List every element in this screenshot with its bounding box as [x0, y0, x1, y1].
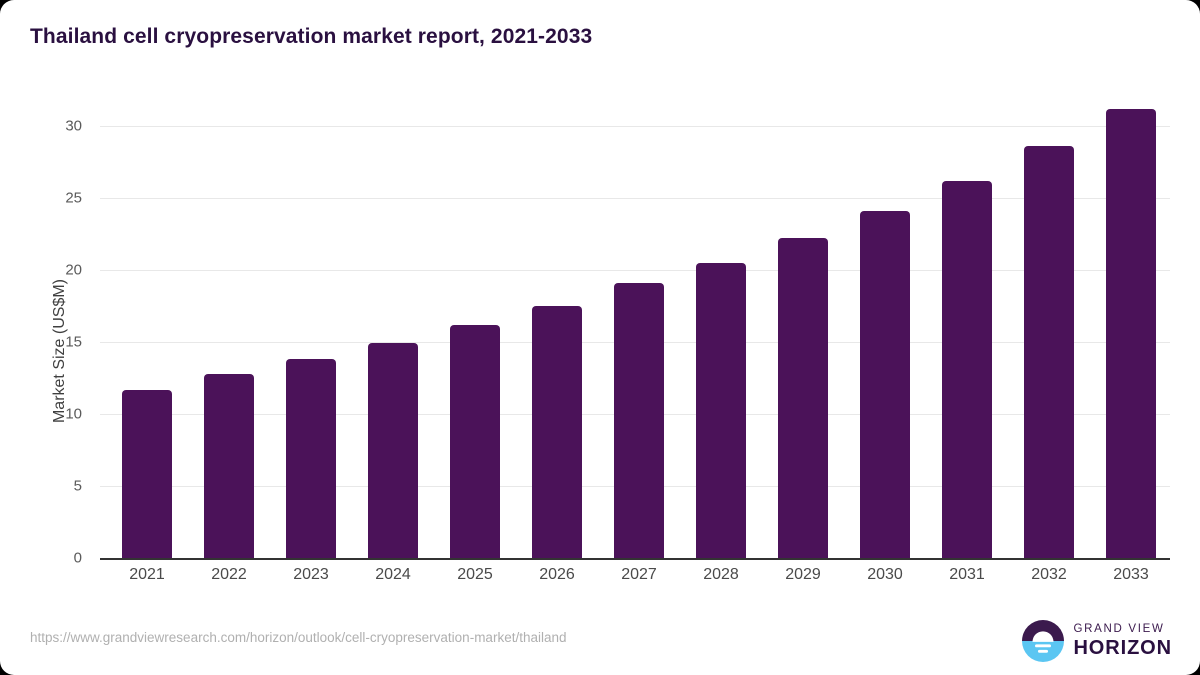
bar[interactable] [532, 306, 582, 558]
y-tick-label: 20 [12, 262, 82, 279]
bar[interactable] [204, 374, 254, 558]
gridline [100, 270, 1170, 271]
y-tick-label: 15 [12, 334, 82, 351]
y-tick-label: 30 [12, 118, 82, 135]
y-tick-label: 25 [12, 190, 82, 207]
bar[interactable] [614, 283, 664, 558]
bar[interactable] [368, 343, 418, 558]
x-tick-label: 2023 [270, 566, 352, 584]
bar[interactable] [450, 325, 500, 558]
y-tick-label: 0 [12, 550, 82, 567]
x-axis-line [100, 558, 1170, 560]
x-tick-label: 2026 [516, 566, 598, 584]
x-tick-label: 2029 [762, 566, 844, 584]
y-axis-title: Market Size (US$M) [51, 141, 69, 561]
x-tick-label: 2024 [352, 566, 434, 584]
x-tick-label: 2028 [680, 566, 762, 584]
x-tick-label: 2032 [1008, 566, 1090, 584]
x-tick-label: 2022 [188, 566, 270, 584]
brand-line-2: HORIZON [1073, 638, 1172, 658]
bar[interactable] [860, 211, 910, 558]
brand-line-1: GRAND VIEW [1073, 624, 1172, 636]
bar[interactable] [1106, 109, 1156, 558]
bar[interactable] [1024, 146, 1074, 558]
page-title: Thailand cell cryopreservation market re… [30, 25, 592, 49]
x-tick-label: 2027 [598, 566, 680, 584]
brand-wordmark: GRAND VIEW HORIZON [1073, 624, 1172, 659]
bar[interactable] [122, 390, 172, 558]
x-tick-label: 2033 [1090, 566, 1172, 584]
x-tick-label: 2021 [106, 566, 188, 584]
bar[interactable] [778, 238, 828, 558]
x-tick-label: 2030 [844, 566, 926, 584]
bar[interactable] [942, 181, 992, 558]
horizon-logo-icon [1022, 620, 1064, 662]
chart-screenshot: Thailand cell cryopreservation market re… [0, 0, 1200, 675]
y-tick-label: 5 [12, 478, 82, 495]
x-tick-label: 2031 [926, 566, 1008, 584]
gridline [100, 126, 1170, 127]
source-url[interactable]: https://www.grandviewresearch.com/horizo… [30, 630, 567, 645]
gridline [100, 198, 1170, 199]
y-tick-label: 10 [12, 406, 82, 423]
x-tick-label: 2025 [434, 566, 516, 584]
plot-area [100, 126, 1170, 558]
brand-logo: GRAND VIEW HORIZON [1022, 620, 1172, 662]
bar[interactable] [696, 263, 746, 558]
bar[interactable] [286, 359, 336, 558]
